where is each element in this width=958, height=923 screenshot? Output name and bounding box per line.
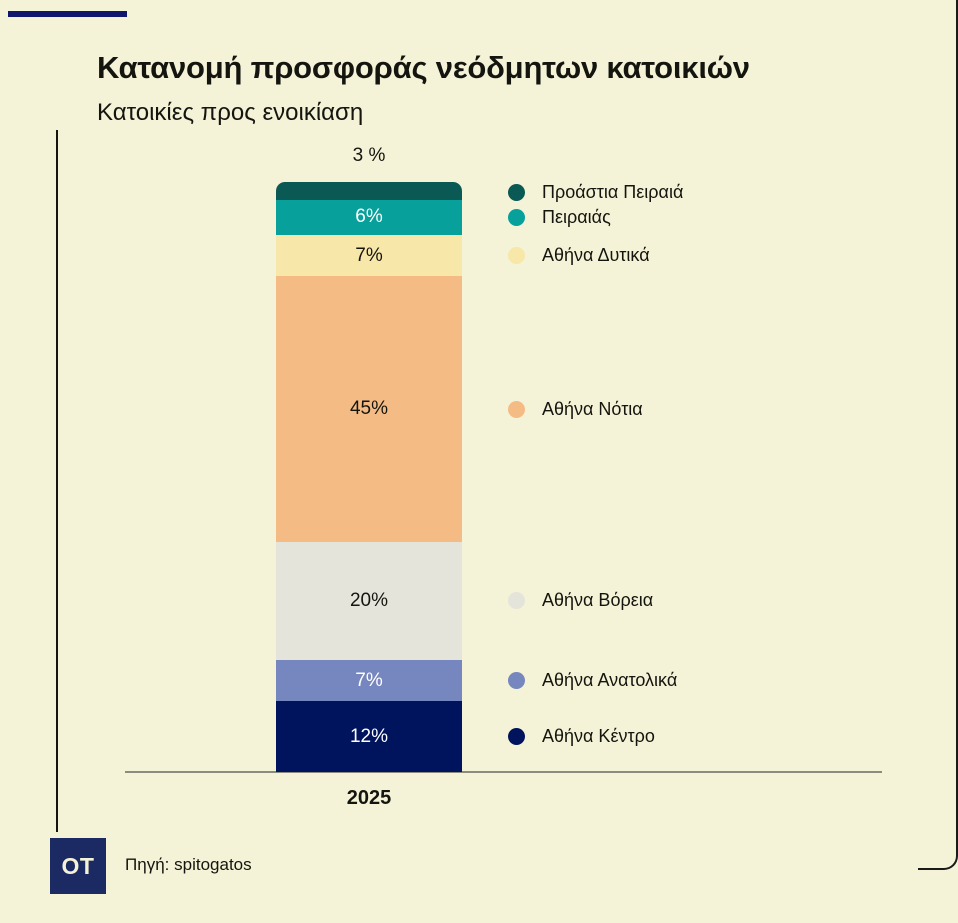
page-title: Κατανομή προσφοράς νεόδμητων κατοικιών xyxy=(97,50,897,86)
bar-segment-value-label: 20% xyxy=(350,590,388,612)
accent-rule xyxy=(8,11,127,17)
legend-color-swatch xyxy=(508,728,525,745)
legend-item-3[interactable]: Αθήνα Δυτικά xyxy=(508,245,650,267)
legend-color-swatch xyxy=(508,209,525,226)
bar-segment-value-label: 7% xyxy=(355,245,382,267)
legend-item-2[interactable]: Πειραιάς xyxy=(508,206,611,228)
bar-segment-value-label: 7% xyxy=(355,670,382,692)
bar-segment-4: 45% xyxy=(276,276,462,542)
ot-logo: OT xyxy=(50,838,106,894)
x-axis-tick-label: 2025 xyxy=(276,787,462,810)
legend-item-5[interactable]: Αθήνα Βόρεια xyxy=(508,590,653,612)
bar-segment-value-label: 3 % xyxy=(276,145,462,167)
legend-color-swatch xyxy=(508,401,525,418)
legend-item-1[interactable]: Προάστια Πειραιά xyxy=(508,181,683,203)
chart-legend: Προάστια ΠειραιάΠειραιάςΑθήνα ΔυτικάΑθήν… xyxy=(508,155,908,775)
legend-item-6[interactable]: Αθήνα Ανατολικά xyxy=(508,670,677,692)
stacked-bar-2025: 3 %6%7%45%20%7%12% xyxy=(276,182,462,772)
bar-segment-value-label: 6% xyxy=(355,206,382,228)
legend-label: Αθήνα Ανατολικά xyxy=(542,670,677,691)
legend-color-swatch xyxy=(508,184,525,201)
decorative-frame-line xyxy=(918,0,958,870)
page-subtitle: Κατοικίες προς ενοικίαση xyxy=(97,99,897,127)
source-note: Πηγή: spitogatos xyxy=(125,855,252,875)
legend-item-7[interactable]: Αθήνα Κέντρο xyxy=(508,726,655,748)
bar-segment-7: 12% xyxy=(276,701,462,772)
legend-label: Προάστια Πειραιά xyxy=(542,182,683,203)
y-axis-line xyxy=(56,130,58,832)
legend-color-swatch xyxy=(508,672,525,689)
legend-label: Αθήνα Νότια xyxy=(542,399,643,420)
bar-segment-value-label: 12% xyxy=(350,726,388,748)
legend-item-4[interactable]: Αθήνα Νότια xyxy=(508,398,643,420)
legend-label: Αθήνα Βόρεια xyxy=(542,590,653,611)
legend-color-swatch xyxy=(508,247,525,264)
bar-segment-2: 6% xyxy=(276,200,462,235)
bar-segment-3: 7% xyxy=(276,235,462,276)
bar-segment-5: 20% xyxy=(276,542,462,660)
bar-segment-6: 7% xyxy=(276,660,462,701)
legend-label: Πειραιάς xyxy=(542,207,611,228)
legend-label: Αθήνα Δυτικά xyxy=(542,245,650,266)
bar-segment-value-label: 45% xyxy=(350,398,388,420)
legend-label: Αθήνα Κέντρο xyxy=(542,726,655,747)
legend-color-swatch xyxy=(508,592,525,609)
bar-segment-1: 3 % xyxy=(276,182,462,200)
